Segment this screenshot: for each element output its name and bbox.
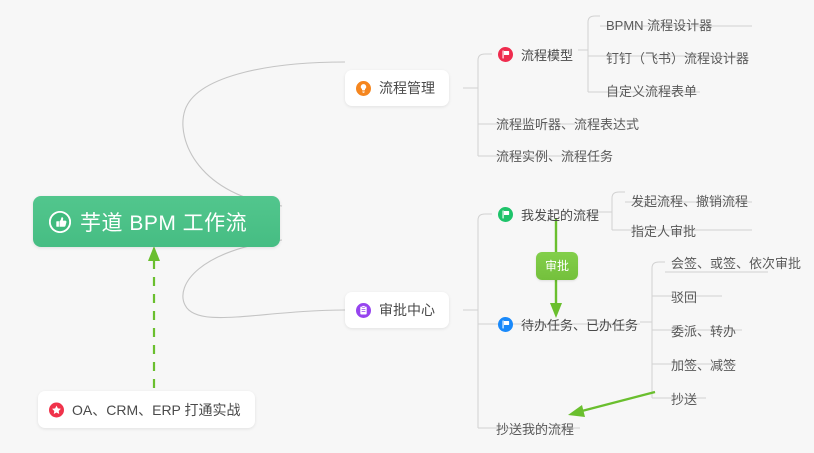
node-delegate-transfer[interactable]: 委派、转办 [665,318,742,344]
cc-flow-arrow [568,392,655,417]
node-label-my-initiated-process: 我发起的流程 [521,205,599,224]
node-dingtalk-feishu-designer[interactable]: 钉钉（飞书）流程设计器 [600,45,755,71]
node-my-initiated-process[interactable]: 我发起的流程 [492,202,605,228]
branch-card-approval-center[interactable]: 审批中心 [345,292,449,328]
integration-note-label: OA、CRM、ERP 打通实战 [72,400,241,420]
integration-dashed-arrow [148,246,160,388]
node-countersign-or-sequential[interactable]: 会签、或签、依次审批 [665,250,807,276]
thumbs-up-icon [49,211,71,233]
node-todo-done-tasks[interactable]: 待办任务、已办任务 [492,312,644,338]
flag-icon [498,207,513,222]
node-cc-to-me-process[interactable]: 抄送我的流程 [490,416,580,442]
integration-note-card[interactable]: OA、CRM、ERP 打通实战 [38,391,255,428]
branch-label-approval-center: 审批中心 [379,300,435,320]
root-label: 芋道 BPM 工作流 [80,207,247,237]
branch-label-process-management: 流程管理 [379,78,435,98]
mindmap-canvas: 芋道 BPM 工作流 流程管理 流程模型 BPMN 流程设计器 钉钉（飞书）流程… [0,0,814,453]
node-label-process-model: 流程模型 [521,45,573,64]
node-process-instance-task[interactable]: 流程实例、流程任务 [490,143,619,169]
approval-pill-badge: 审批 [536,252,578,280]
root-node[interactable]: 芋道 BPM 工作流 [33,196,280,247]
node-reject[interactable]: 驳回 [665,284,703,310]
node-start-cancel-process[interactable]: 发起流程、撤销流程 [625,188,754,214]
flag-icon [498,317,513,332]
branch-card-process-management[interactable]: 流程管理 [345,70,449,106]
clipboard-icon [356,303,371,318]
star-icon [49,402,64,417]
flag-icon [498,47,513,62]
node-label-todo-done-tasks: 待办任务、已办任务 [521,315,638,334]
node-process-listener-expression[interactable]: 流程监听器、流程表达式 [490,111,645,137]
node-bpmn-designer[interactable]: BPMN 流程设计器 [600,12,718,38]
node-cc[interactable]: 抄送 [665,386,703,412]
lightbulb-icon [356,81,371,96]
node-process-model[interactable]: 流程模型 [492,42,579,68]
node-add-remove-sign[interactable]: 加签、减签 [665,352,742,378]
node-custom-process-form[interactable]: 自定义流程表单 [600,78,703,104]
node-designated-approver[interactable]: 指定人审批 [625,218,702,244]
